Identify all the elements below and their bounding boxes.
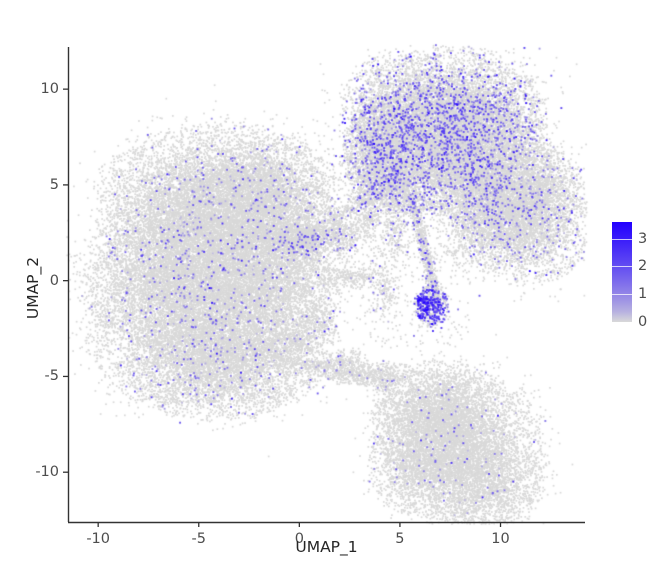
colorbar-tick	[612, 322, 632, 323]
colorbar-tick-label: 3	[638, 231, 647, 247]
y-tick-label: -5	[45, 368, 59, 384]
y-tick-label: 0	[50, 273, 59, 289]
colorbar-tick-label: 1	[638, 286, 647, 302]
colorbar-tick-label: 0	[638, 314, 647, 330]
colorbar-tick	[612, 266, 632, 267]
colorbar-tick	[612, 294, 632, 295]
colorbar-tick-label: 2	[638, 258, 647, 274]
y-tick-label: 10	[41, 81, 59, 97]
plot-axes	[0, 0, 672, 576]
x-axis-label: UMAP_1	[68, 538, 585, 556]
colorbar-gradient	[612, 222, 632, 322]
y-tick-label: -10	[35, 464, 59, 480]
y-axis-label: UMAP_2	[24, 257, 42, 319]
colorbar-legend: 0123	[612, 222, 632, 322]
colorbar-tick	[612, 239, 632, 240]
umap-feature-plot: GRAMD1B -10-50510-10-50510 UMAP_2 UMAP_1…	[0, 0, 672, 576]
y-tick-label: 5	[50, 177, 59, 193]
y-axis-ticks	[63, 89, 68, 472]
